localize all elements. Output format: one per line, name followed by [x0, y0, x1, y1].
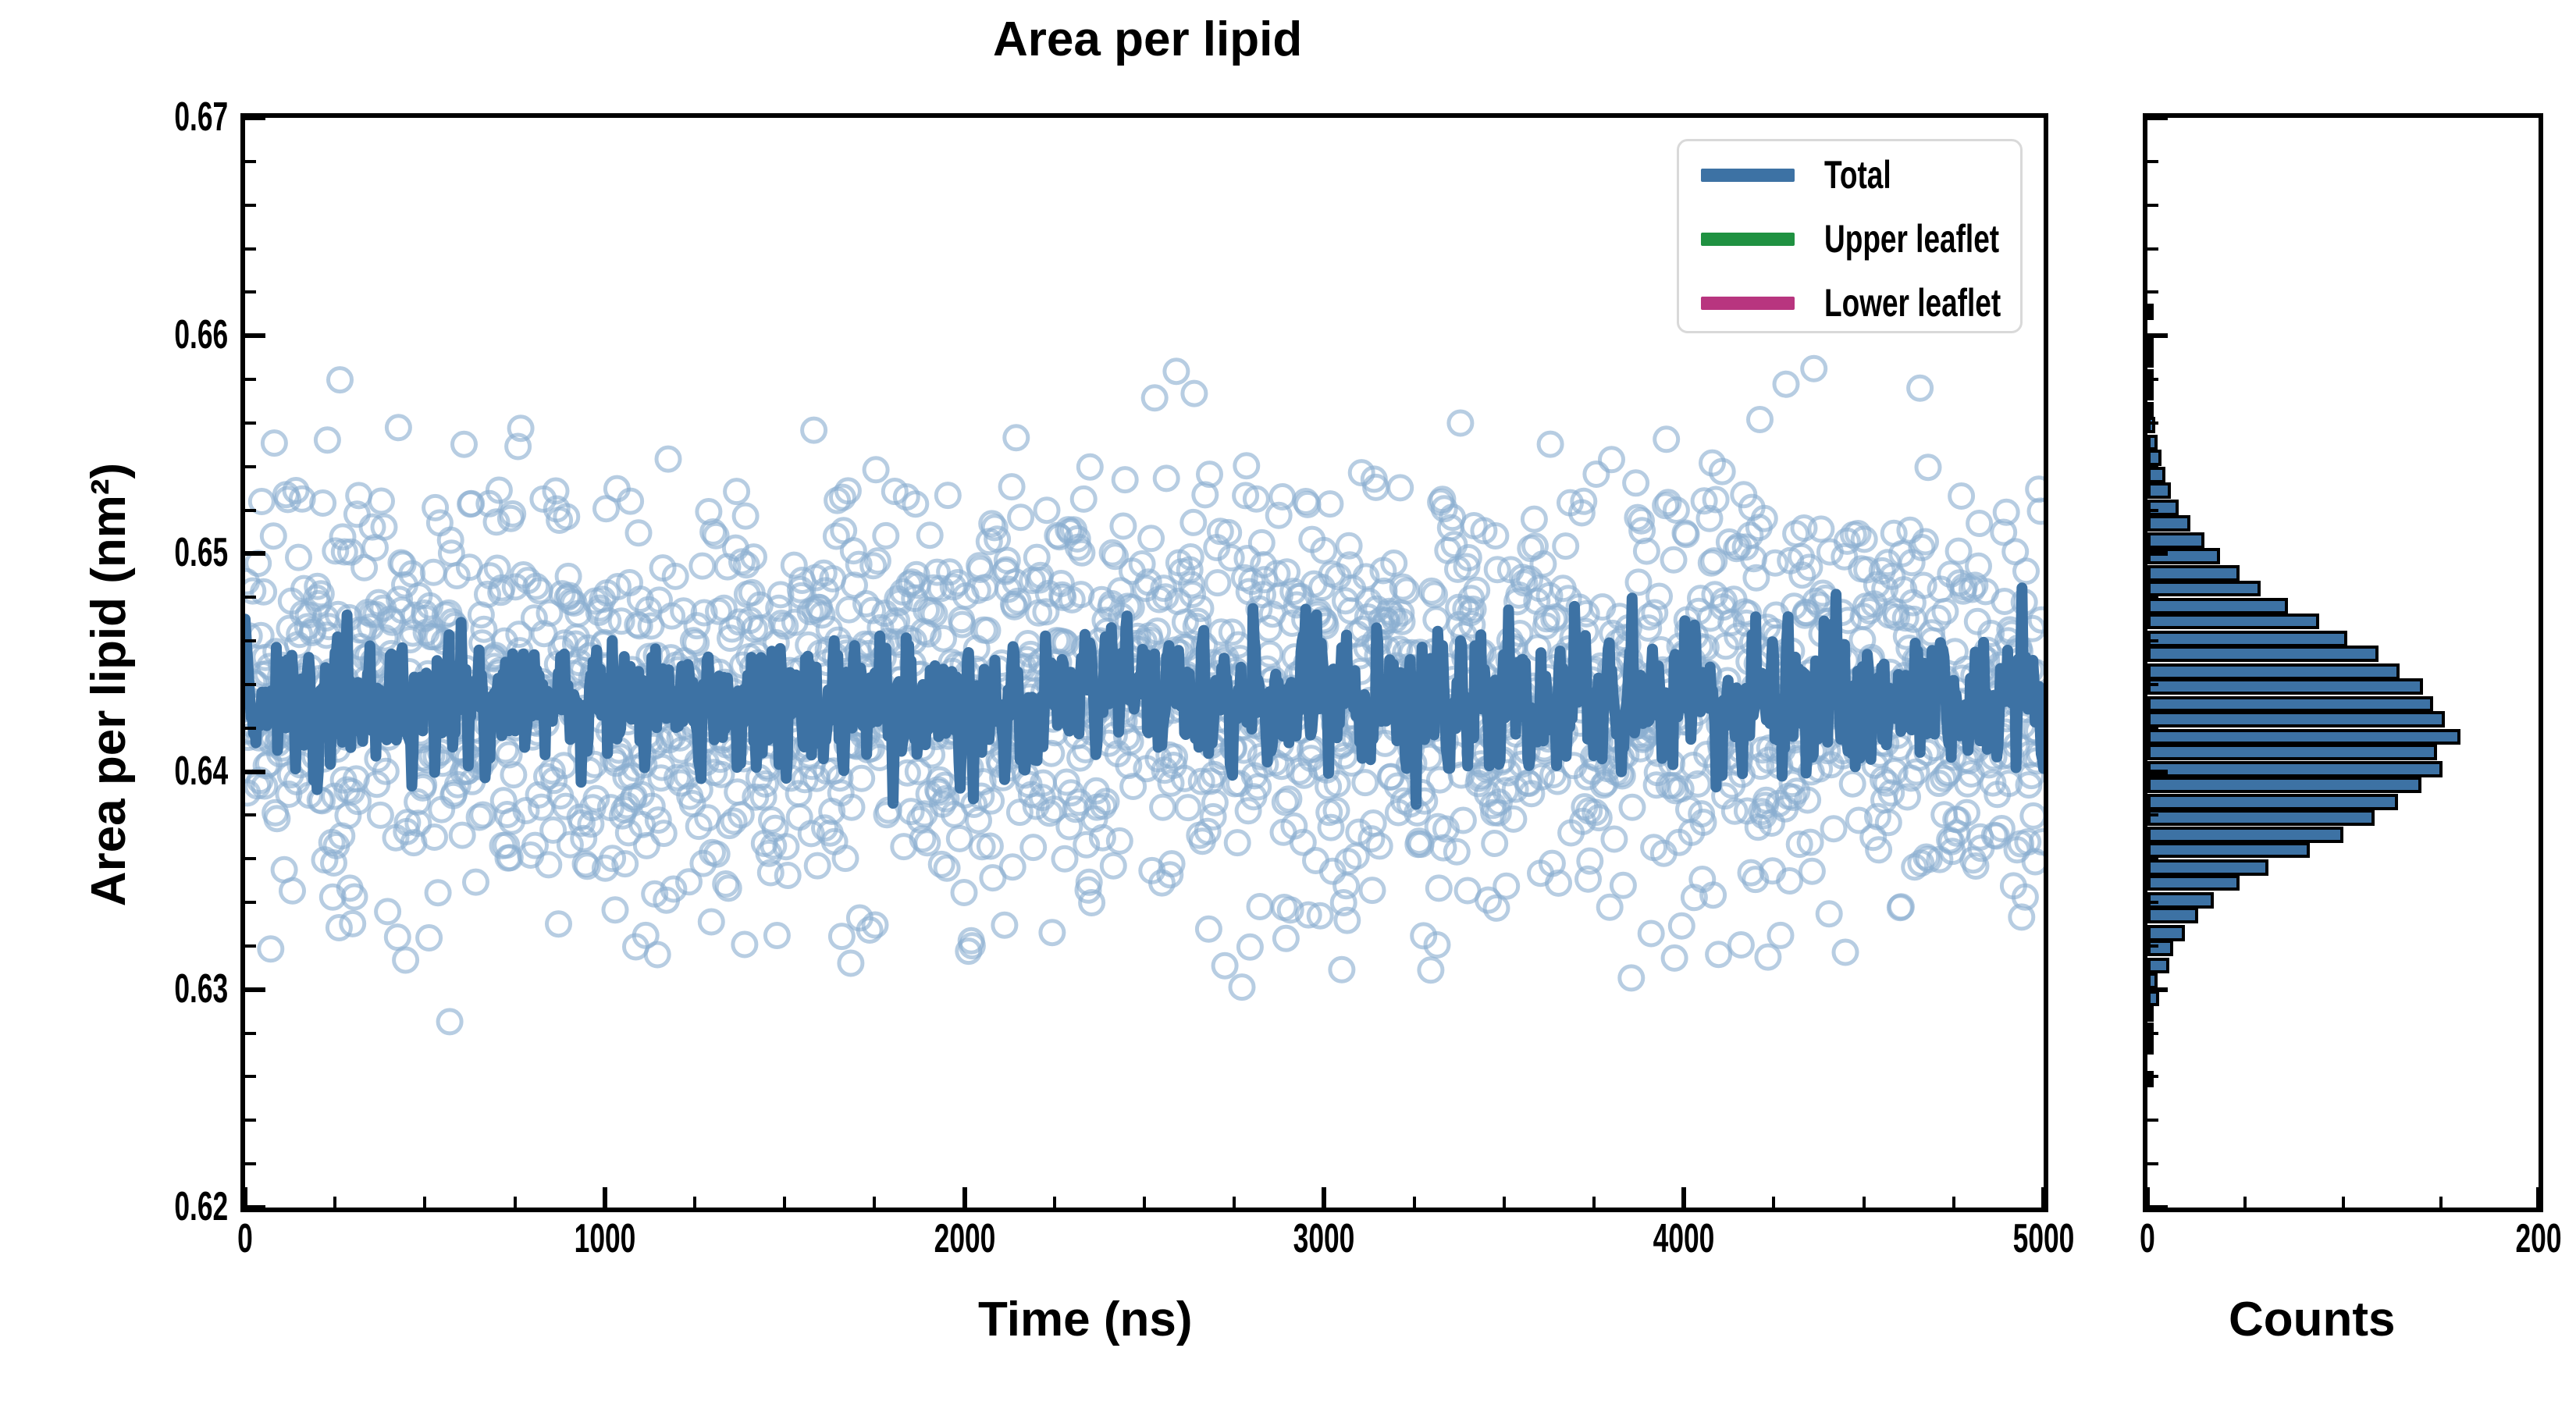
histogram-y-major-tick	[2147, 770, 2168, 774]
y-minor-tick	[245, 944, 256, 948]
histogram-bar	[2147, 940, 2173, 956]
y-tick-label: 0.63	[174, 969, 228, 1009]
legend-swatch-lower-leaflet	[1701, 297, 1795, 310]
histogram-bar	[2147, 515, 2190, 532]
y-minor-tick	[245, 901, 256, 904]
histogram-y-minor-tick	[2147, 1162, 2158, 1165]
x-minor-tick	[1772, 1197, 1775, 1208]
histogram-bar	[2147, 729, 2460, 745]
y-minor-tick	[245, 1075, 256, 1078]
histogram-bar	[2147, 384, 2154, 400]
legend-entry-lower-leaflet[interactable]: Lower leaflet	[1701, 276, 2063, 330]
legend-swatch-total	[1701, 169, 1795, 182]
y-major-tick	[245, 551, 265, 556]
x-axis-title: Time (ns)	[978, 1296, 1192, 1344]
y-tick-label: 0.62	[174, 1186, 228, 1227]
histogram-bar	[2147, 631, 2347, 647]
x-minor-tick	[1863, 1197, 1866, 1208]
histogram-bar	[2147, 827, 2343, 843]
histogram-bar	[2147, 991, 2159, 1007]
x-tick-label: 3000	[1293, 1218, 1355, 1259]
histogram-x-minor-tick	[2243, 1197, 2247, 1208]
histogram-bar	[2147, 614, 2319, 630]
histogram-y-minor-tick	[2147, 857, 2158, 860]
histogram-y-major-tick	[2147, 987, 2168, 992]
histogram-bar	[2147, 598, 2288, 614]
histogram-bar	[2147, 467, 2165, 483]
legend-label-lower-leaflet: Lower leaflet	[1824, 283, 2001, 322]
histogram-bar	[2147, 435, 2158, 451]
histogram-bar	[2147, 417, 2155, 433]
histogram-bar	[2147, 678, 2423, 695]
x-minor-tick	[514, 1197, 517, 1208]
histogram-x-minor-tick	[2439, 1197, 2443, 1208]
y-minor-tick	[245, 1032, 256, 1035]
y-major-tick	[245, 333, 265, 338]
chart-figure: Area per lipid 0.620.630.640.650.660.67 …	[0, 0, 2576, 1405]
histogram-bar	[2147, 794, 2398, 810]
x-minor-tick	[423, 1197, 426, 1208]
histogram-x-axis-title: Counts	[2229, 1296, 2396, 1344]
x-major-tick	[243, 1187, 247, 1208]
y-minor-tick	[245, 727, 256, 730]
histogram-y-minor-tick	[2147, 1032, 2158, 1035]
legend-swatch-upper-leaflet	[1701, 233, 1795, 246]
y-minor-tick	[245, 378, 256, 381]
histogram-bar	[2147, 859, 2268, 876]
x-minor-tick	[1053, 1197, 1056, 1208]
x-major-tick	[1322, 1187, 1326, 1208]
histogram-plot-area	[2147, 118, 2539, 1208]
histogram-y-minor-tick	[2147, 1119, 2158, 1122]
y-tick-label: 0.64	[174, 751, 228, 791]
histogram-bar	[2147, 402, 2154, 418]
x-tick-label: 2000	[934, 1218, 995, 1259]
legend-entry-total[interactable]: Total	[1701, 148, 1915, 202]
histogram-y-minor-tick	[2147, 596, 2158, 599]
histogram-bar	[2147, 777, 2421, 793]
histogram-bar	[2147, 875, 2240, 891]
histogram-bar	[2147, 663, 2400, 680]
y-minor-tick	[245, 465, 256, 468]
y-tick-label: 0.65	[174, 532, 228, 573]
y-minor-tick	[245, 290, 256, 293]
histogram-y-major-tick	[2147, 1205, 2168, 1210]
histogram-y-minor-tick	[2147, 639, 2158, 642]
x-minor-tick	[873, 1197, 876, 1208]
histogram-x-tick-label: 200	[2515, 1218, 2561, 1259]
histogram-y-major-tick	[2147, 551, 2168, 556]
x-major-tick	[603, 1187, 607, 1208]
y-minor-tick	[245, 509, 256, 512]
histogram-bar	[2147, 744, 2437, 760]
histogram-y-minor-tick	[2147, 944, 2158, 948]
y-major-tick	[245, 116, 265, 120]
y-tick-label: 0.67	[174, 97, 228, 137]
y-minor-tick	[245, 421, 256, 425]
y-minor-tick	[245, 247, 256, 251]
x-major-tick	[962, 1187, 967, 1208]
x-minor-tick	[1143, 1197, 1146, 1208]
legend-label-upper-leaflet: Upper leaflet	[1824, 219, 1999, 258]
x-major-tick	[2041, 1187, 2046, 1208]
histogram-bar	[2147, 842, 2310, 859]
legend-entry-upper-leaflet[interactable]: Upper leaflet	[1701, 212, 2061, 266]
y-major-tick	[245, 1205, 265, 1210]
histogram-y-minor-tick	[2147, 465, 2158, 468]
histogram-x-major-tick	[2536, 1187, 2541, 1208]
histogram-bar	[2147, 336, 2154, 353]
y-axis-title: Area per lipid (nm²)	[85, 411, 133, 958]
histogram-bar	[2147, 958, 2169, 974]
histogram-y-minor-tick	[2147, 421, 2158, 425]
histogram-bar	[2147, 696, 2433, 713]
histogram-bar	[2147, 532, 2204, 549]
histogram-y-minor-tick	[2147, 683, 2158, 686]
histogram-y-minor-tick	[2147, 901, 2158, 904]
histogram-bar	[2147, 761, 2443, 777]
histogram-y-major-tick	[2147, 333, 2168, 338]
histogram-bar	[2147, 1005, 2154, 1022]
histogram-y-minor-tick	[2147, 204, 2158, 207]
histogram-bar	[2147, 351, 2154, 368]
x-minor-tick	[333, 1197, 336, 1208]
histogram-bar	[2147, 646, 2379, 662]
legend: Total Upper leaflet Lower leaflet	[1677, 139, 2023, 333]
x-minor-tick	[1413, 1197, 1416, 1208]
histogram-bar	[2147, 925, 2185, 941]
y-tick-label: 0.66	[174, 315, 228, 355]
histogram-bar	[2147, 907, 2198, 923]
y-minor-tick	[245, 639, 256, 642]
x-tick-label: 0	[237, 1218, 253, 1259]
x-tick-label: 5000	[2013, 1218, 2075, 1259]
histogram-bar	[2147, 581, 2261, 597]
histogram-bar	[2147, 1071, 2154, 1087]
histogram-bar	[2147, 565, 2240, 582]
chart-title: Area per lipid	[993, 16, 1302, 64]
y-minor-tick	[245, 204, 256, 207]
x-minor-tick	[1503, 1197, 1506, 1208]
histogram-y-minor-tick	[2147, 290, 2158, 293]
histogram-y-minor-tick	[2147, 247, 2158, 251]
x-tick-label: 1000	[574, 1218, 635, 1259]
y-major-tick	[245, 770, 265, 774]
histogram-bar	[2147, 1038, 2154, 1055]
x-minor-tick	[693, 1197, 696, 1208]
histogram-y-minor-tick	[2147, 727, 2158, 730]
y-minor-tick	[245, 160, 256, 163]
y-major-tick	[245, 987, 265, 992]
y-minor-tick	[245, 596, 256, 599]
histogram-y-minor-tick	[2147, 1075, 2158, 1078]
x-minor-tick	[783, 1197, 786, 1208]
x-minor-tick	[1952, 1197, 1955, 1208]
x-minor-tick	[1233, 1197, 1236, 1208]
histogram-bar	[2147, 809, 2375, 826]
histogram-y-minor-tick	[2147, 509, 2158, 512]
x-minor-tick	[1592, 1197, 1596, 1208]
x-tick-label: 4000	[1653, 1218, 1715, 1259]
histogram-bar	[2147, 450, 2161, 466]
histogram-bar	[2147, 304, 2154, 320]
histogram-y-minor-tick	[2147, 160, 2158, 163]
legend-label-total: Total	[1824, 155, 1891, 194]
histogram-y-minor-tick	[2147, 378, 2158, 381]
histogram-bar	[2147, 482, 2171, 499]
y-minor-tick	[245, 1162, 256, 1165]
y-minor-tick	[245, 857, 256, 860]
x-major-tick	[1681, 1187, 1686, 1208]
histogram-x-tick-label: 0	[2140, 1218, 2155, 1259]
y-minor-tick	[245, 813, 256, 816]
histogram-y-major-tick	[2147, 116, 2168, 120]
y-minor-tick	[245, 1119, 256, 1122]
histogram-x-minor-tick	[2342, 1197, 2345, 1208]
y-minor-tick	[245, 683, 256, 686]
histogram-y-minor-tick	[2147, 813, 2158, 816]
histogram-bar	[2147, 711, 2445, 727]
